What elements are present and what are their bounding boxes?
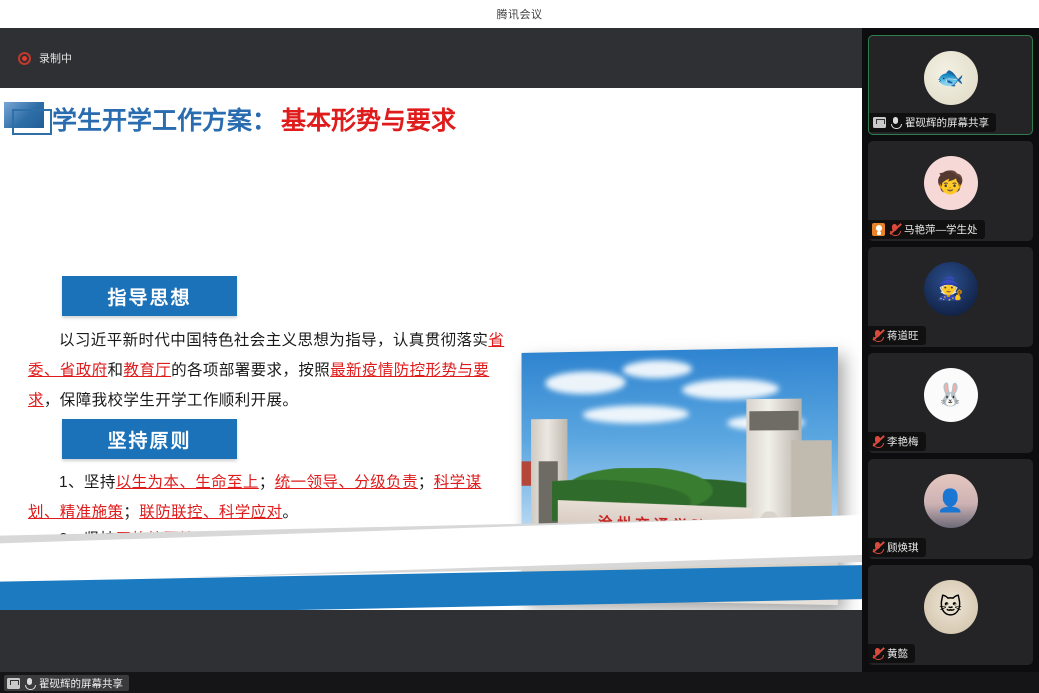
para1-tail: ，保障我校学生开学工作顺利开展。 bbox=[44, 392, 298, 409]
recording-bar: 录制中 bbox=[0, 28, 862, 88]
avatar: 🐟 bbox=[924, 51, 978, 105]
participant-name: 蒋道旺 bbox=[887, 328, 919, 343]
principle-item-1: 1、坚持以生为本、生命至上；统一领导、分级负责；科学谋划、精准施策；联防联控、科… bbox=[28, 468, 510, 528]
recording-label: 录制中 bbox=[39, 50, 72, 66]
participant-sidebar[interactable]: 🐟 翟砚辉的屏幕共享 🧒 马艳萍—学生处 🧙 蒋道旺 🐰 bbox=[862, 28, 1039, 672]
mic-off-icon bbox=[872, 329, 883, 342]
participant-namebar-1: 翟砚辉的屏幕共享 bbox=[869, 113, 996, 132]
record-dot-icon bbox=[18, 52, 31, 65]
para1-mid1: 和 bbox=[108, 362, 124, 379]
slide-title-main: 学生开学工作方案： bbox=[52, 107, 277, 135]
mic-off-icon bbox=[889, 223, 900, 236]
item1-sep3: ； bbox=[123, 504, 139, 521]
item1-sep1: ； bbox=[259, 474, 275, 491]
slide-title-row: 学生开学工作方案：基本形势与要求 bbox=[0, 101, 456, 137]
item1-sep2: ； bbox=[418, 474, 434, 491]
section-band-label-2: 坚持原则 bbox=[107, 426, 191, 453]
section-band-principles: 坚持原则 bbox=[62, 419, 237, 459]
title-decoration-icon bbox=[4, 102, 52, 136]
mic-on-icon bbox=[890, 116, 901, 129]
participant-name: 马艳萍—学生处 bbox=[904, 222, 978, 237]
avatar: 🧙 bbox=[924, 262, 978, 316]
recording-indicator: 录制中 bbox=[18, 50, 72, 66]
section-band-guiding-ideology: 指导思想 bbox=[62, 276, 237, 316]
participant-namebar-6: 黄懿 bbox=[868, 644, 915, 663]
bottom-status-bar: 翟砚辉的屏幕共享 bbox=[0, 672, 1039, 693]
avatar: 🐱 bbox=[924, 580, 978, 634]
window-title: 腾讯会议 bbox=[497, 6, 543, 22]
item1-num: 1、 bbox=[59, 474, 84, 491]
participant-name: 翟砚辉的屏幕共享 bbox=[905, 115, 989, 130]
para1-em2: 教育厅 bbox=[123, 362, 171, 379]
participant-tile-2[interactable]: 🧒 马艳萍—学生处 bbox=[868, 141, 1033, 241]
participant-tile-3[interactable]: 🧙 蒋道旺 bbox=[868, 247, 1033, 347]
window-titlebar: 腾讯会议 bbox=[0, 0, 1039, 28]
shared-screen-stage[interactable]: 录制中 学生开学工作方案：基本形势与要求 指导思想 以习近平新时代中国特色社会主… bbox=[0, 28, 862, 672]
meeting-window: 腾讯会议 录制中 学生开学工作方案：基本形势与要求 指导思想 bbox=[0, 0, 1039, 693]
paragraph-guiding-ideology: 以习近平新时代中国特色社会主义思想为指导，认真贯彻落实省委、省政府和教育厅的各项… bbox=[28, 326, 510, 416]
mic-off-icon bbox=[872, 647, 883, 660]
participant-namebar-4: 李艳梅 bbox=[868, 432, 926, 451]
screen-share-status-label: 翟砚辉的屏幕共享 bbox=[39, 676, 123, 691]
participant-tile-6[interactable]: 🐱 黄懿 bbox=[868, 565, 1033, 665]
participant-tile-4[interactable]: 🐰 李艳梅 bbox=[868, 353, 1033, 453]
screen-share-status-chip[interactable]: 翟砚辉的屏幕共享 bbox=[4, 675, 129, 691]
mic-on-icon bbox=[24, 677, 35, 690]
participant-namebar-5: 顾焕琪 bbox=[868, 538, 926, 557]
slide-title: 学生开学工作方案：基本形势与要求 bbox=[52, 101, 456, 137]
avatar: 👤 bbox=[924, 474, 978, 528]
avatar: 🧒 bbox=[924, 156, 978, 210]
item1-tail: 。 bbox=[282, 504, 298, 521]
participant-name: 顾焕琪 bbox=[887, 540, 919, 555]
mic-off-icon bbox=[872, 435, 883, 448]
item1-em1: 以生为本、生命至上 bbox=[116, 474, 259, 491]
screen-share-icon bbox=[7, 678, 20, 689]
participant-name: 黄懿 bbox=[887, 646, 908, 661]
participant-tile-5[interactable]: 👤 顾焕琪 bbox=[868, 459, 1033, 559]
participant-namebar-2: 马艳萍—学生处 bbox=[868, 220, 985, 239]
item1-pre: 坚持 bbox=[84, 474, 116, 491]
screen-share-icon bbox=[873, 117, 886, 128]
participant-namebar-3: 蒋道旺 bbox=[868, 326, 926, 345]
host-badge-icon bbox=[872, 223, 885, 236]
mic-off-icon bbox=[872, 541, 883, 554]
participant-name: 李艳梅 bbox=[887, 434, 919, 449]
section-band-label-1: 指导思想 bbox=[107, 283, 191, 310]
stage-bottom-filler bbox=[0, 610, 862, 672]
participant-tile-1[interactable]: 🐟 翟砚辉的屏幕共享 bbox=[868, 35, 1033, 135]
item1-em4: 联防联控、科学应对 bbox=[139, 504, 282, 521]
presentation-slide: 学生开学工作方案：基本形势与要求 指导思想 以习近平新时代中国特色社会主义思想为… bbox=[0, 88, 862, 610]
para1-mid2: 的各项部署要求，按照 bbox=[171, 362, 330, 379]
item1-em2: 统一领导、分级负责 bbox=[275, 474, 418, 491]
para1-line1: 以习近平新时代中国特色社会主义思想为指导，认真贯彻落实 bbox=[59, 332, 488, 349]
avatar: 🐰 bbox=[924, 368, 978, 422]
slide-title-accent: 基本形势与要求 bbox=[281, 107, 456, 135]
